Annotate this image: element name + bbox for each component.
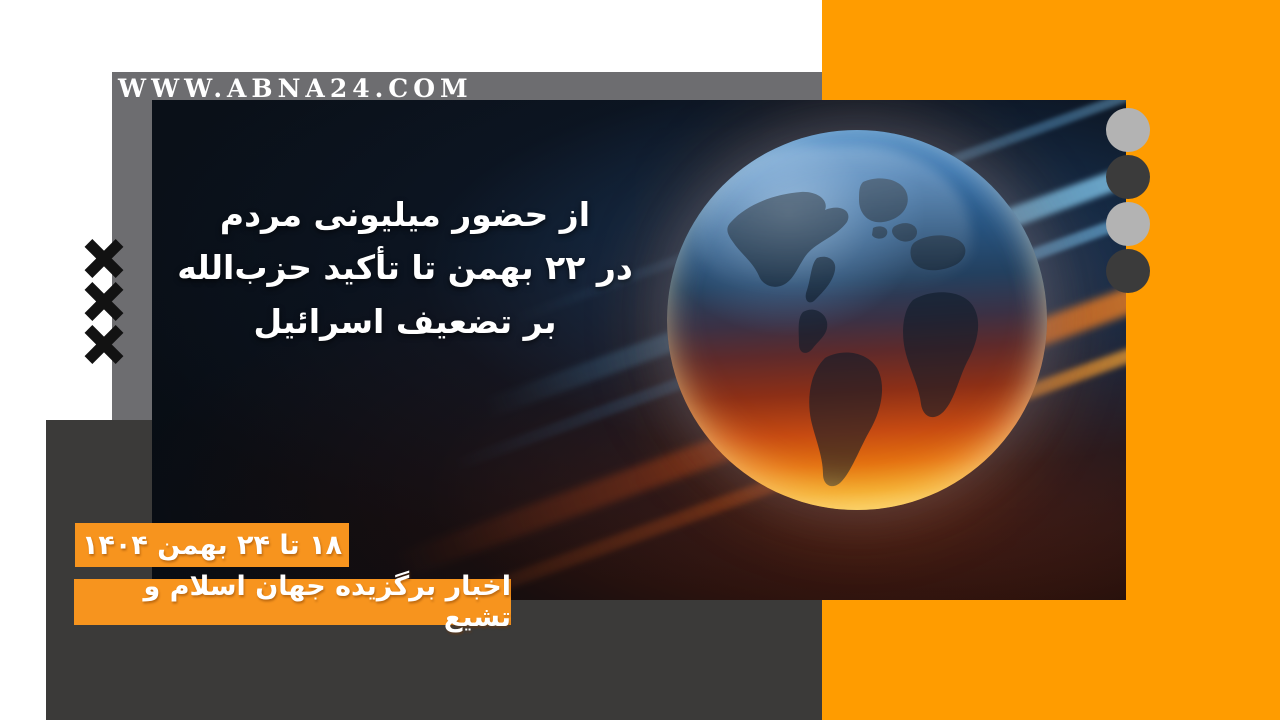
- decor-dot-light: [1106, 202, 1150, 246]
- subtitle-badge: اخبار برگزیده جهان اسلام و تشیع: [74, 579, 511, 625]
- decor-dot-light: [1106, 108, 1150, 152]
- globe-illustration: [667, 130, 1087, 570]
- x-mark-icon: [82, 236, 126, 280]
- decor-dot-dark: [1106, 155, 1150, 199]
- decor-dot-dark: [1106, 249, 1150, 293]
- x-mark-icon: [82, 322, 126, 366]
- x-mark-icon: [82, 279, 126, 323]
- poster-canvas: WWW.ABNA24.COM: [0, 0, 1280, 720]
- globe-rim-highlight: [667, 130, 1047, 510]
- date-range-badge: ۱۸ تا ۲۴ بهمن ۱۴۰۴: [75, 523, 349, 567]
- x-marks-decoration: [82, 236, 128, 366]
- website-url: WWW.ABNA24.COM: [118, 74, 473, 103]
- headline-text: از حضور میلیونی مردم در ۲۲ بهمن تا تأکید…: [165, 188, 645, 348]
